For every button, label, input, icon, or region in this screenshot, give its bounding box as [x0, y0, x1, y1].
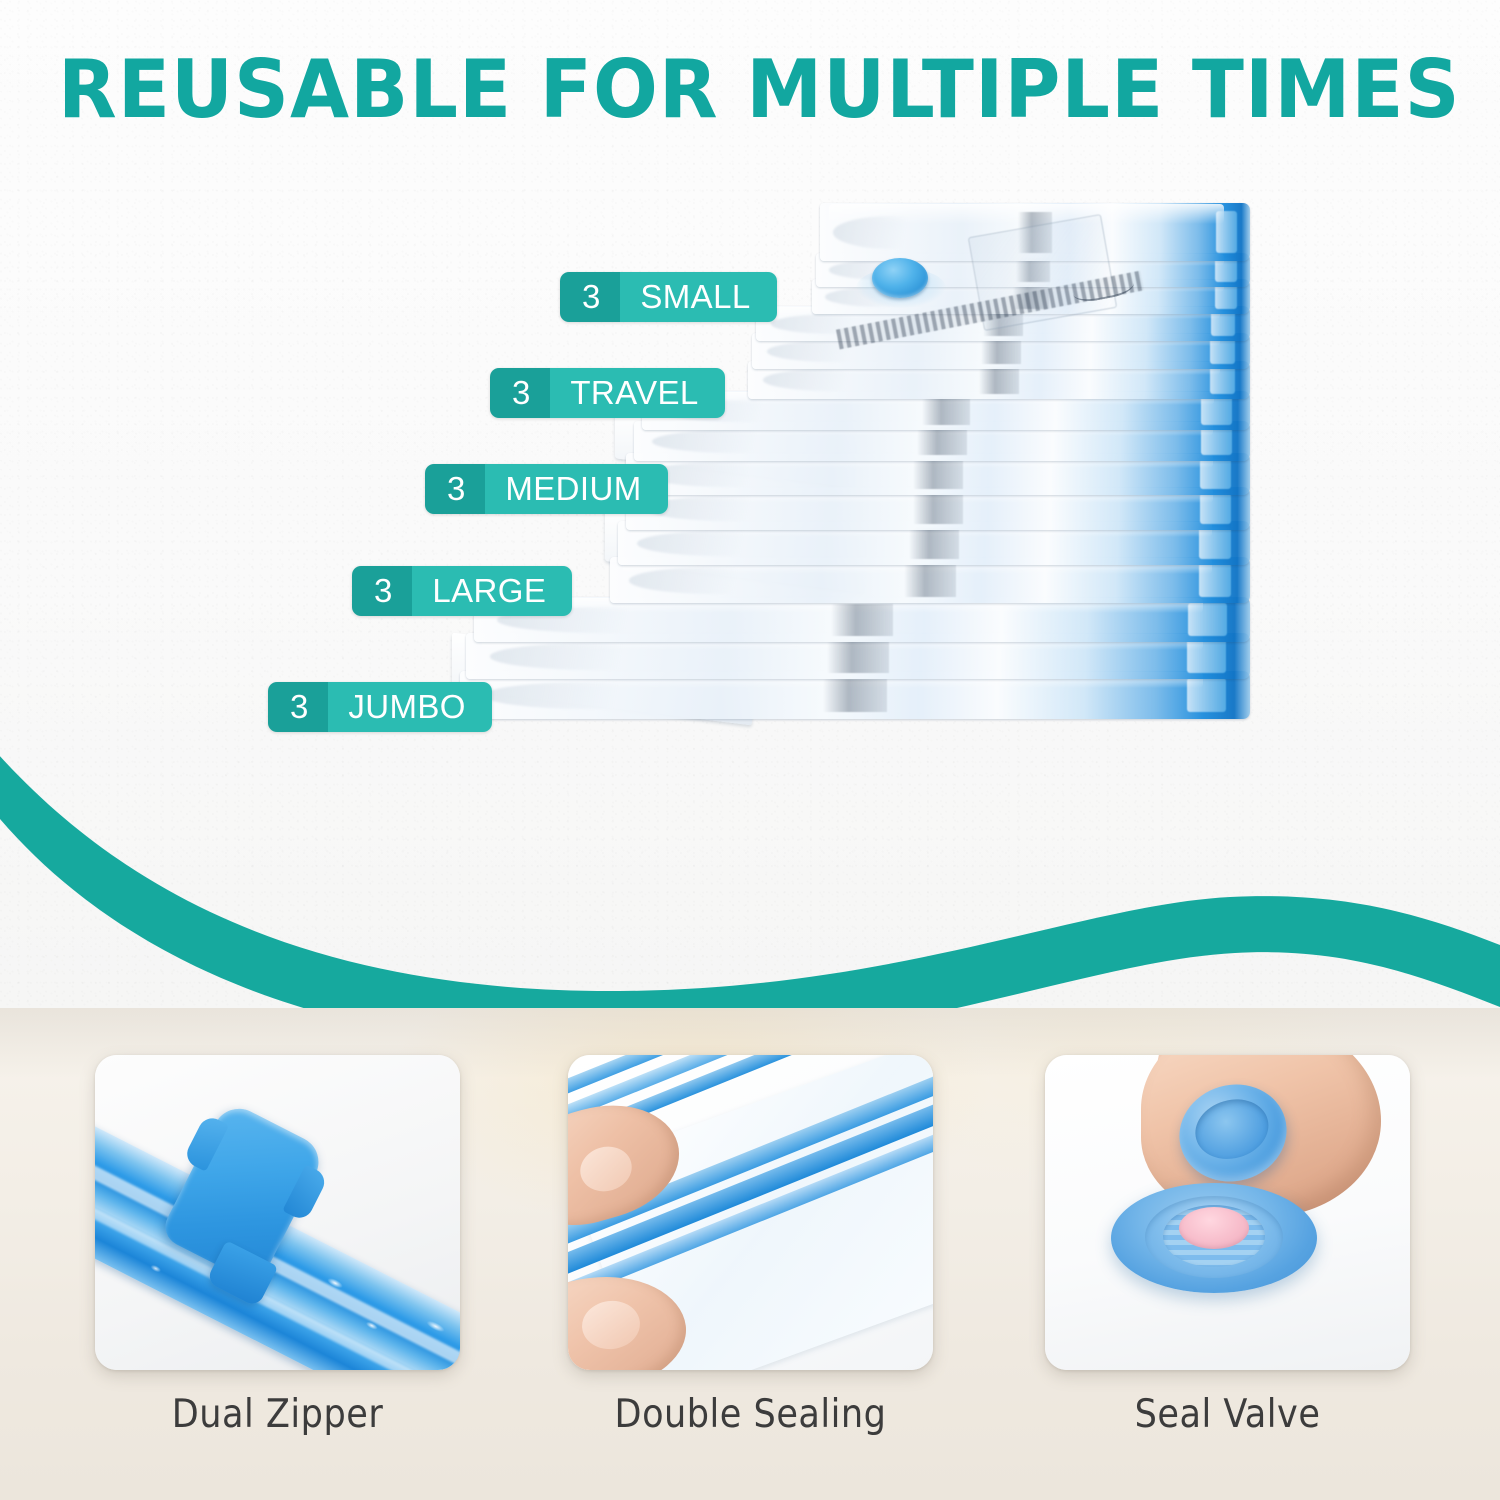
feature-caption-dual-zipper: Dual Zipper [95, 1392, 460, 1437]
bag-stack-image [430, 195, 1250, 915]
size-badge-large[interactable]: 3 LARGE [352, 566, 572, 616]
feature-card-seal-valve[interactable] [1045, 1055, 1410, 1370]
size-badge-label: MEDIUM [485, 464, 667, 514]
size-badge-qty: 3 [560, 272, 620, 322]
size-badge-qty: 3 [352, 566, 412, 616]
bag-layer [474, 597, 1250, 642]
size-badge-qty: 3 [490, 368, 550, 418]
size-badge-qty: 3 [425, 464, 485, 514]
size-badge-jumbo[interactable]: 3 JUMBO [268, 682, 492, 732]
double-seal-photo [568, 1055, 933, 1370]
size-badge-label: JUMBO [328, 682, 492, 732]
valve-membrane [1179, 1207, 1249, 1249]
size-badge-qty: 3 [268, 682, 328, 732]
size-badge-label: SMALL [620, 272, 776, 322]
seal-valve-photo [1045, 1055, 1410, 1370]
feature-caption-seal-valve: Seal Valve [1045, 1392, 1410, 1437]
size-badge-medium[interactable]: 3 MEDIUM [425, 464, 668, 514]
size-badge-small[interactable]: 3 SMALL [560, 272, 777, 322]
feature-card-dual-zipper[interactable] [95, 1055, 460, 1370]
size-badge-travel[interactable]: 3 TRAVEL [490, 368, 725, 418]
feature-card-double-sealing[interactable] [568, 1055, 933, 1370]
valve-cap-icon [872, 258, 928, 298]
page-title: REUSABLE FOR MULTIPLE TIMES [58, 42, 1500, 138]
size-badge-label: LARGE [412, 566, 572, 616]
feature-caption-double-sealing: Double Sealing [568, 1392, 933, 1437]
zipper-slider-photo [95, 1055, 460, 1370]
size-badge-label: TRAVEL [550, 368, 724, 418]
infographic-page: REUSABLE FOR MULTIPLE TIMES 3 SMALL [0, 0, 1500, 1500]
